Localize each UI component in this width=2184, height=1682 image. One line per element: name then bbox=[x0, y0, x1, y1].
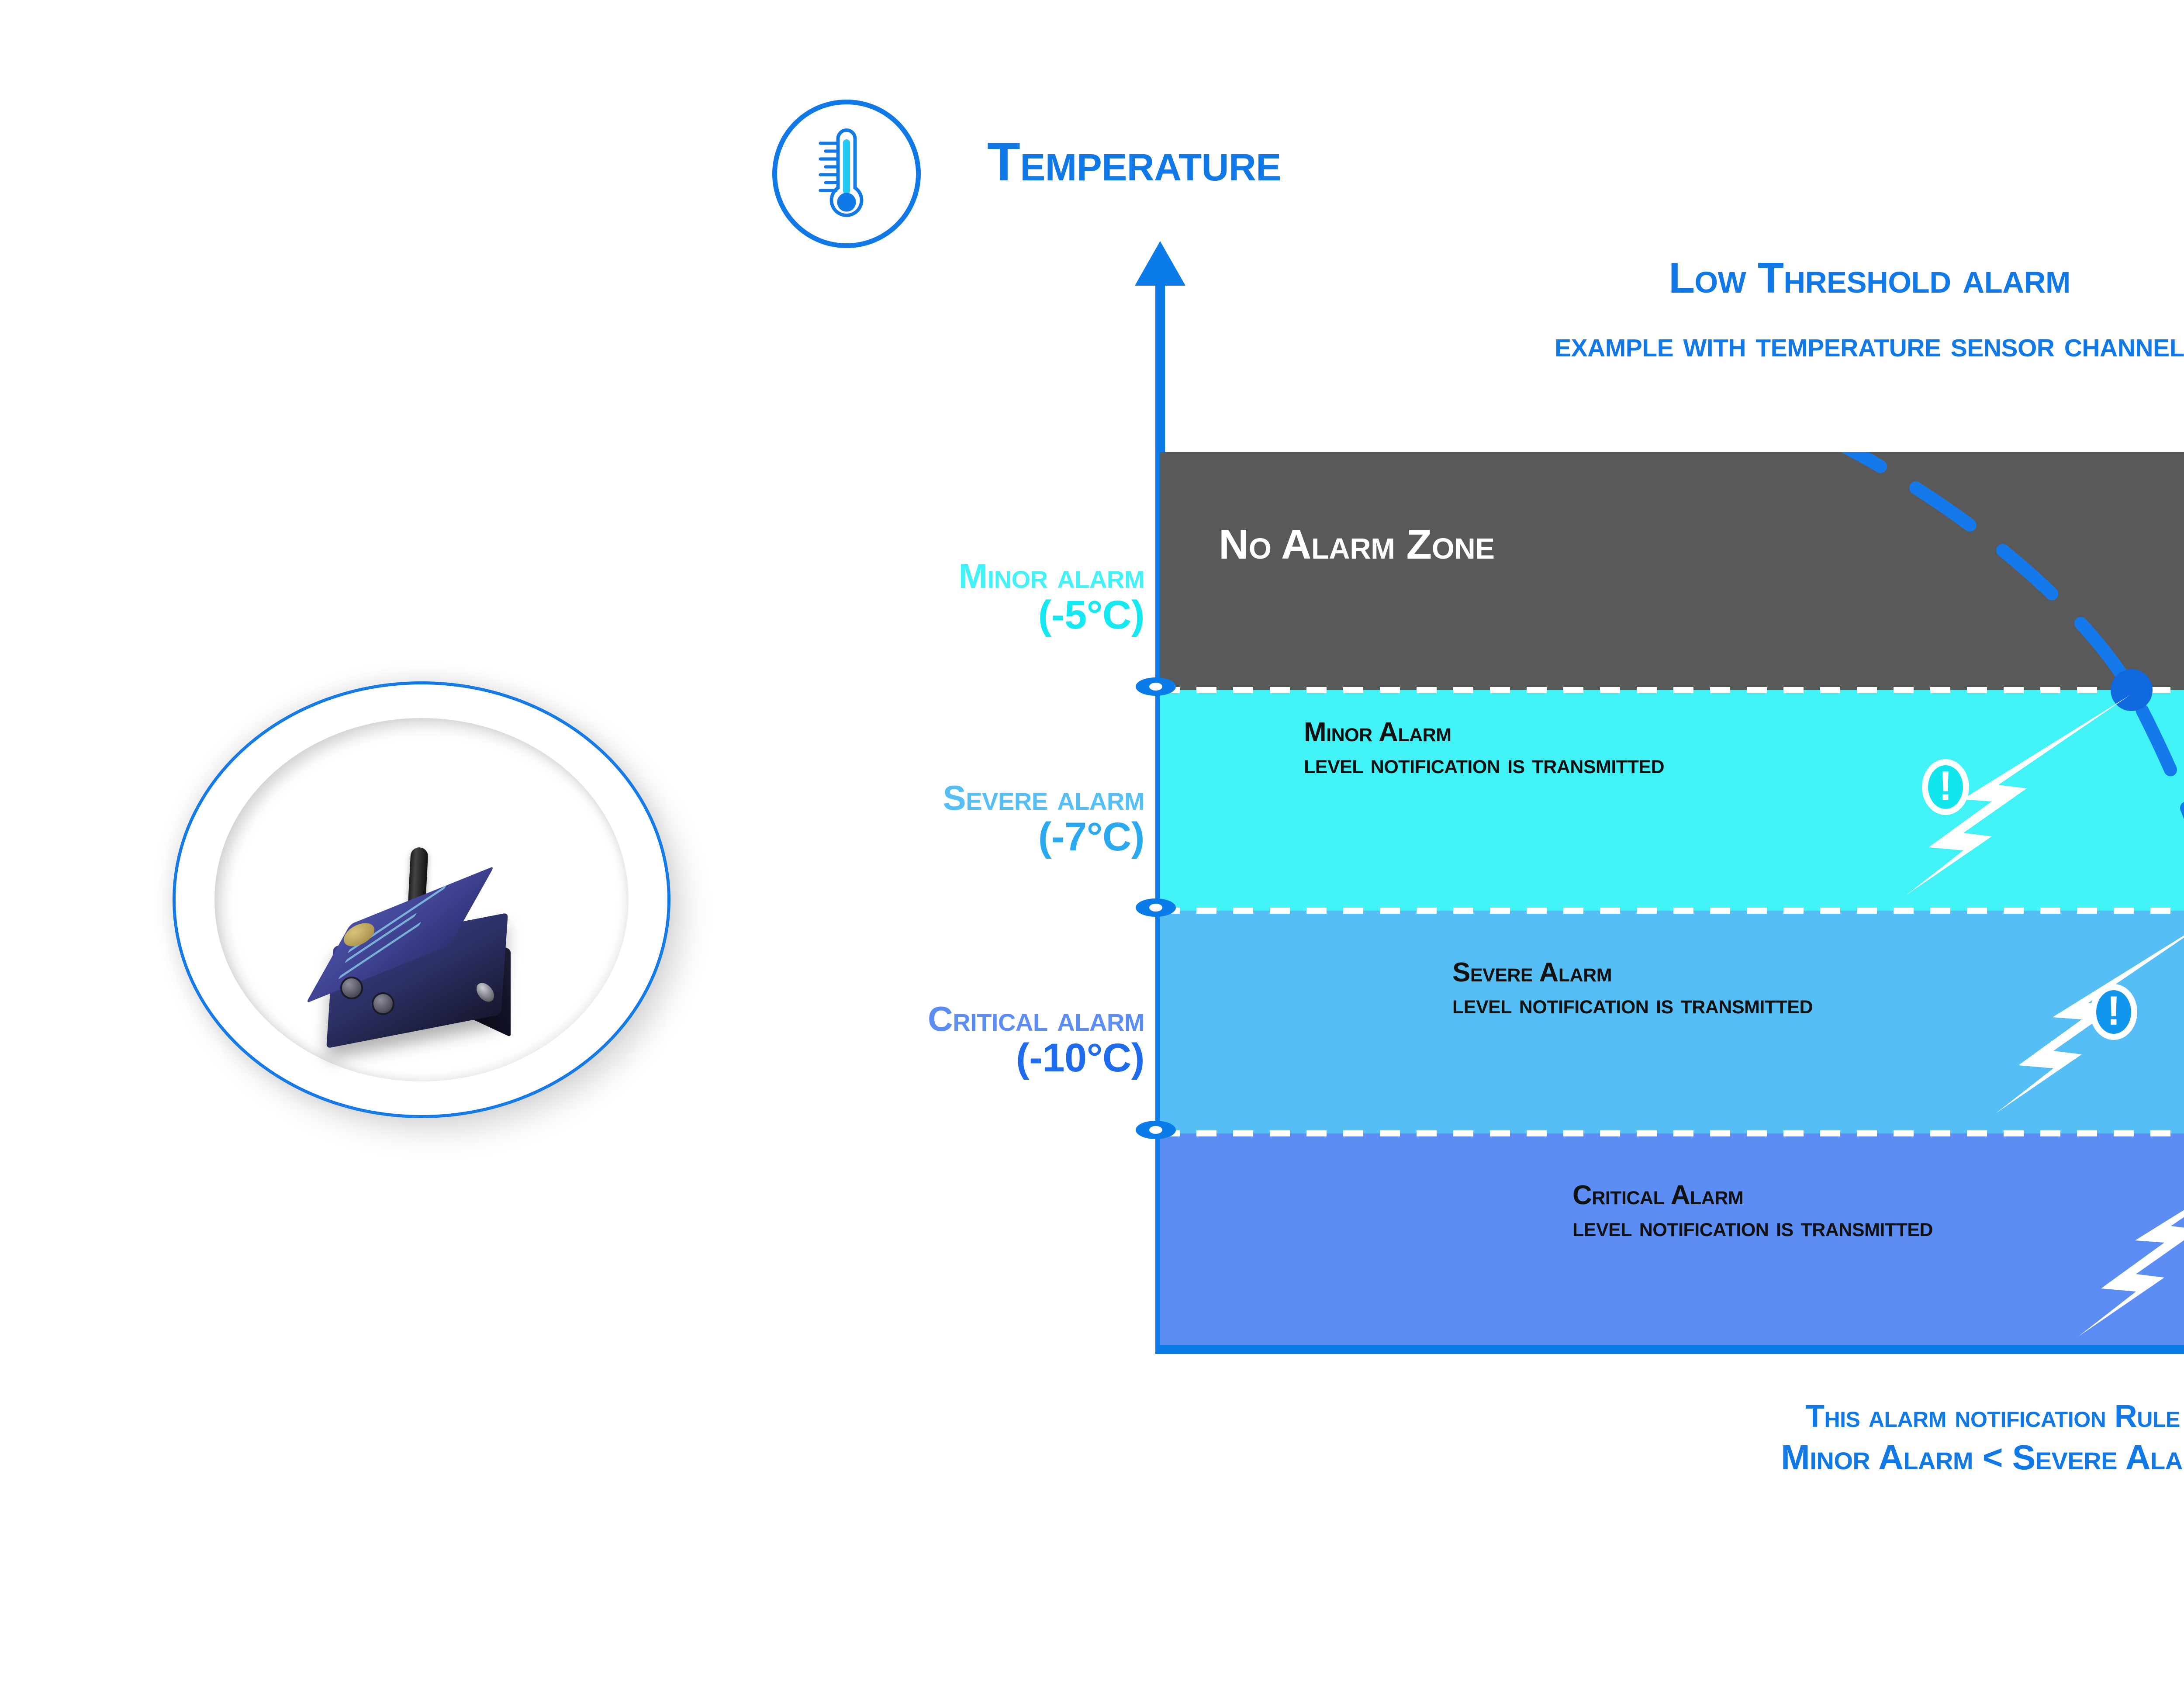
zone-note-critical: Critical Alarm level notification is tra… bbox=[1572, 1179, 1933, 1243]
threshold-value-severe: (-7°C) bbox=[681, 816, 1144, 858]
chart-subtitle: example with temperature sensor channel bbox=[1162, 324, 2184, 365]
x-axis-line bbox=[1155, 1344, 2184, 1354]
threshold-name-severe: Severe alarm bbox=[681, 780, 1144, 816]
zone-note-minor: Minor Alarm level notification is transm… bbox=[1304, 716, 1664, 780]
no-alarm-zone-label: No Alarm Zone bbox=[1219, 521, 1494, 569]
threshold-value-critical: (-10°C) bbox=[681, 1037, 1144, 1079]
sensor-device-badge bbox=[173, 681, 670, 1118]
device-connector bbox=[340, 977, 363, 999]
zone-text-critical: level notification is transmitted bbox=[1572, 1211, 1933, 1243]
y-axis-label: Temperature bbox=[987, 131, 1281, 193]
alert-exclamation-icon: ! bbox=[2107, 990, 2120, 1031]
zone-title-severe: Severe Alarm bbox=[1452, 957, 1813, 988]
y-axis-arrow bbox=[1135, 241, 1185, 286]
zone-text-minor: level notification is transmitted bbox=[1304, 748, 1664, 780]
zone-title-critical: Critical Alarm bbox=[1572, 1179, 1933, 1211]
alert-badge-minor: ! bbox=[1922, 759, 1969, 815]
alert-exclamation-icon: ! bbox=[1939, 765, 1952, 806]
zone-note-severe: Severe Alarm level notification is trans… bbox=[1452, 957, 1813, 1020]
sensor-device-image bbox=[304, 839, 548, 1057]
thermometer-badge bbox=[772, 100, 921, 248]
threshold-label-severe: Severe alarm (-7°C) bbox=[681, 780, 1144, 858]
footer-line-1: This alarm notification Rule should be r… bbox=[1660, 1398, 2184, 1436]
chart-title: Low Threshold alarm bbox=[1162, 253, 2184, 303]
threshold-label-critical: Critical alarm (-10°C) bbox=[681, 1001, 1144, 1079]
threshold-label-minor: Minor alarm (-5°C) bbox=[681, 558, 1144, 636]
threshold-name-minor: Minor alarm bbox=[681, 558, 1144, 594]
y-tick-critical bbox=[1136, 1121, 1176, 1139]
device-connector bbox=[372, 992, 394, 1015]
y-tick-minor bbox=[1136, 677, 1176, 696]
zone-text-severe: level notification is transmitted bbox=[1452, 988, 1813, 1020]
lightning-bolt-icon bbox=[2078, 1136, 2184, 1337]
alert-badge-severe: ! bbox=[2090, 984, 2137, 1040]
threshold-name-critical: Critical alarm bbox=[681, 1001, 1144, 1037]
threshold-value-minor: (-5°C) bbox=[681, 594, 1144, 636]
y-tick-severe bbox=[1136, 898, 1176, 917]
footer-line-2: Minor Alarm < Severe Alarm < Critical Al… bbox=[1660, 1436, 2184, 1479]
footer-caption: This alarm notification Rule should be r… bbox=[1660, 1398, 2184, 1478]
thermometer-icon bbox=[802, 122, 891, 227]
zone-title-minor: Minor Alarm bbox=[1304, 716, 1664, 748]
